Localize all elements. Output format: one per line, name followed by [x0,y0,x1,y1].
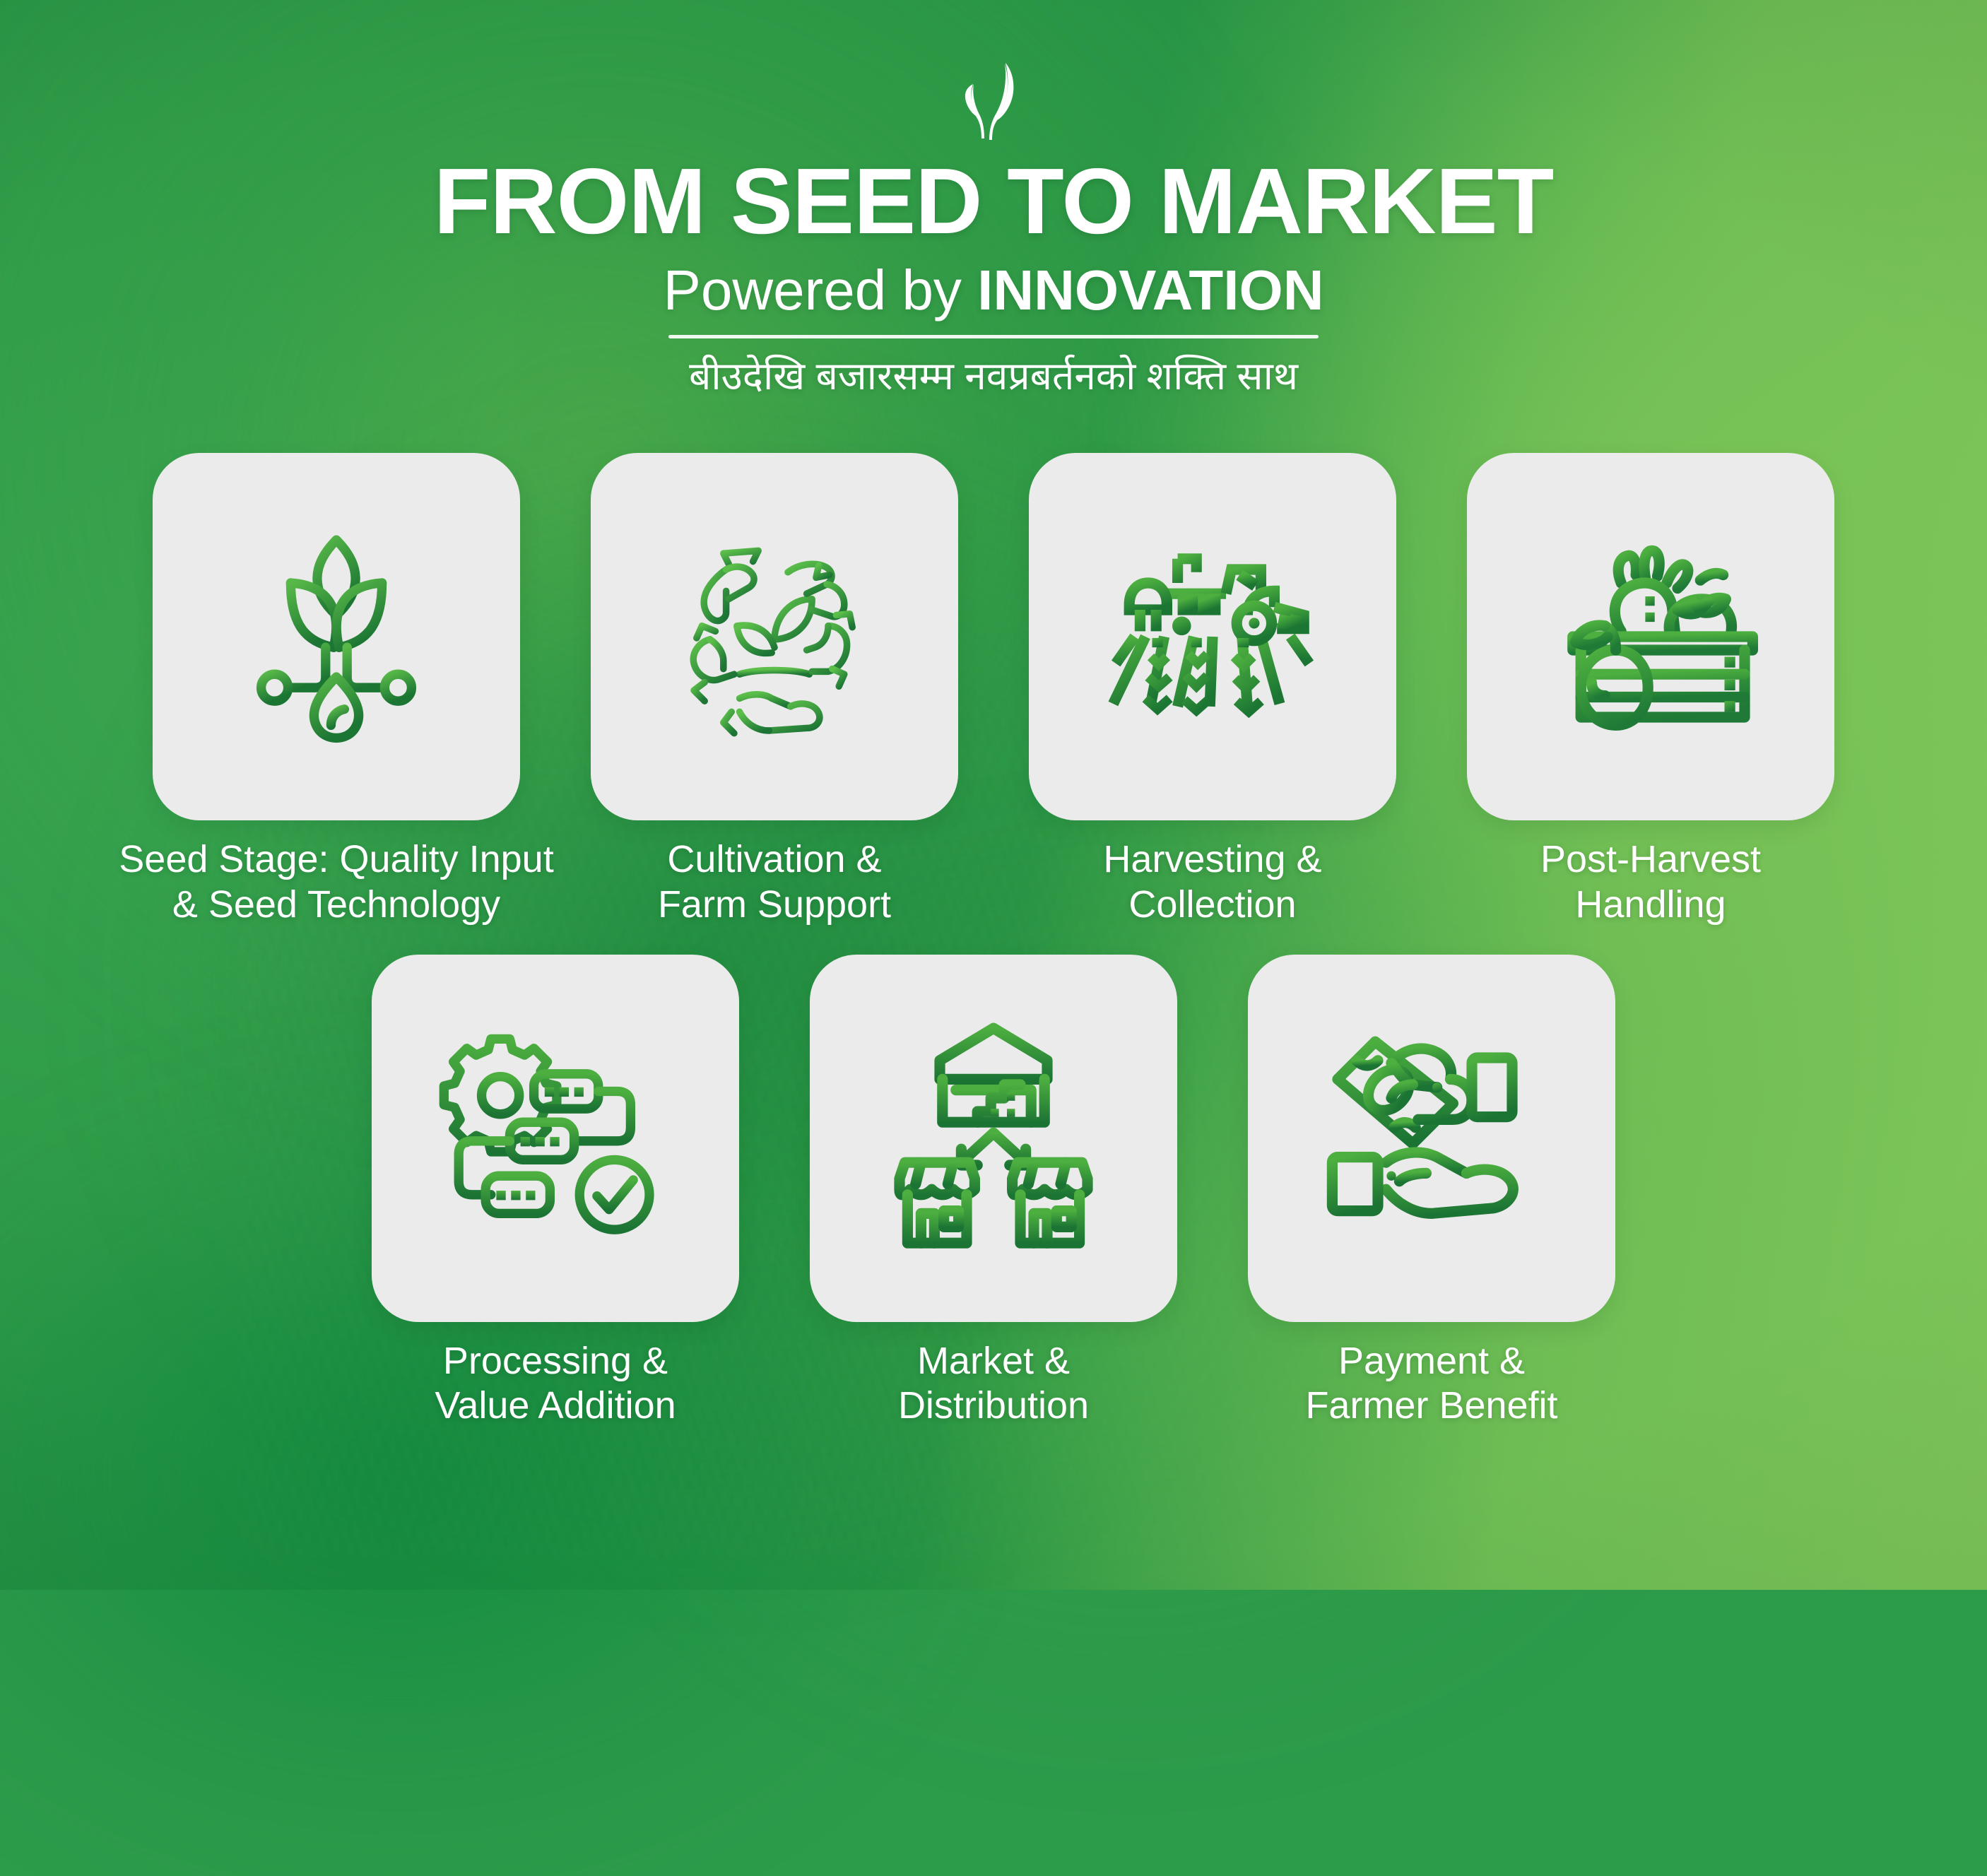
stage-row-2: Processing & Value Addition [0,955,1987,1429]
stage-label: Processing & Value Addition [435,1339,676,1429]
warehouse-to-shops-icon [859,1004,1128,1273]
stage-item-harvesting[interactable]: Harvesting & Collection [1029,453,1396,927]
stage-card-market[interactable] [810,955,1177,1322]
seed-sprout-tech-icon [202,502,471,771]
stage-label: Seed Stage: Quality Input & Seed Technol… [103,837,570,927]
hands-around-sprout-icon [640,502,909,771]
header: FROM SEED TO MARKET Powered by INNOVATIO… [0,0,1987,402]
nepali-tagline: बीउदेखि बजारसम्म नवप्रबर्तनको शक्ति साथ [0,350,1987,402]
stage-label: Post-Harvest Handling [1540,837,1761,927]
stage-item-payment[interactable]: Payment & Farmer Benefit [1248,955,1615,1429]
tractor-field-icon [1078,502,1347,771]
leaf-sprout-icon [937,61,1050,146]
page-title: FROM SEED TO MARKET [0,154,1987,249]
produce-crate-icon [1516,502,1785,771]
gear-process-check-icon [421,1004,690,1273]
subtitle-lead: Powered by [663,259,977,321]
stage-card-seed[interactable] [153,453,520,820]
stage-card-payment[interactable] [1248,955,1615,1322]
stage-item-seed[interactable]: Seed Stage: Quality Input & Seed Technol… [153,453,520,927]
stage-card-postharvest[interactable] [1467,453,1834,820]
money-hand-exchange-icon [1297,1004,1566,1273]
stage-item-cultivation[interactable]: Cultivation & Farm Support [591,453,958,927]
stage-label: Payment & Farmer Benefit [1305,1339,1557,1429]
stage-item-postharvest[interactable]: Post-Harvest Handling [1467,453,1834,927]
stage-row-1: Seed Stage: Quality Input & Seed Technol… [0,453,1987,927]
page-subtitle: Powered by INNOVATION [0,258,1987,322]
stage-item-processing[interactable]: Processing & Value Addition [372,955,739,1429]
stage-card-cultivation[interactable] [591,453,958,820]
stage-label: Cultivation & Farm Support [658,837,891,927]
stage-label: Harvesting & Collection [1103,837,1321,927]
stage-card-harvesting[interactable] [1029,453,1396,820]
stage-item-market[interactable]: Market & Distribution [810,955,1177,1429]
infographic-page: FROM SEED TO MARKET Powered by INNOVATIO… [0,0,1987,1590]
stage-card-processing[interactable] [372,955,739,1322]
subtitle-strong: INNOVATION [977,259,1323,321]
header-divider [668,335,1319,338]
stage-label: Market & Distribution [898,1339,1089,1429]
